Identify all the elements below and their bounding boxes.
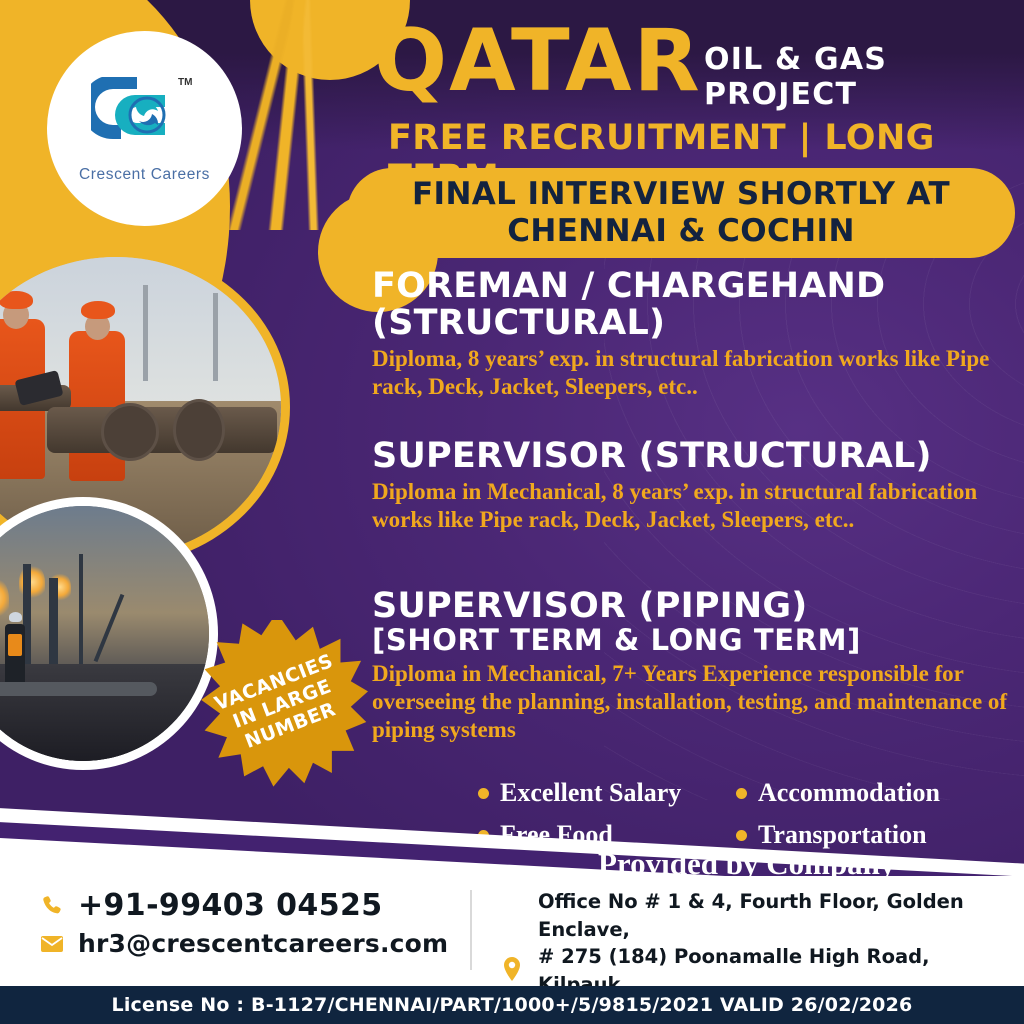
crescent-c-icon bbox=[91, 77, 199, 159]
email-icon bbox=[38, 934, 66, 954]
contact-left: +91-99403 04525 hr3@crescentcareers.com bbox=[38, 888, 448, 964]
phone-number: +91-99403 04525 bbox=[78, 888, 383, 923]
job-title-line2: (STRUCTURAL) bbox=[372, 305, 1020, 342]
job-item-foreman: FOREMAN / CHARGEHAND (STRUCTURAL) Diplom… bbox=[372, 268, 1020, 401]
job-description: Diploma, 8 years’ exp. in structural fab… bbox=[372, 345, 1020, 401]
email-line[interactable]: hr3@crescentcareers.com bbox=[38, 929, 448, 958]
interview-banner-line2: CHENNAI & COCHIN bbox=[507, 213, 855, 250]
job-title-line1: SUPERVISOR (PIPING) bbox=[372, 588, 1020, 625]
photo-mast bbox=[79, 554, 83, 666]
trademark-icon: TM bbox=[178, 77, 192, 88]
footer-divider bbox=[470, 890, 472, 970]
interview-banner: FINAL INTERVIEW SHORTLY AT CHENNAI & COC… bbox=[347, 168, 1015, 258]
photo-refinery-dusk bbox=[0, 497, 218, 770]
address-line-1: Office No # 1 & 4, Fourth Floor, Golden … bbox=[538, 888, 1024, 943]
photo-derrick-2 bbox=[213, 293, 218, 381]
job-title-line1: SUPERVISOR (STRUCTURAL) bbox=[372, 438, 1020, 475]
license-bar: License No : B-1127/CHENNAI/PART/1000+/5… bbox=[0, 986, 1024, 1024]
job-title-line1: FOREMAN / CHARGEHAND bbox=[372, 268, 1020, 305]
benefits-row-1: Excellent Salary Accommodation bbox=[478, 772, 998, 814]
photo-ground-pipe bbox=[0, 682, 157, 696]
recruitment-poster: TM Crescent Careers QATAR OIL & GAS PROJ… bbox=[0, 0, 1024, 1024]
photo-worker-1-helmet bbox=[0, 291, 33, 309]
job-description: Diploma in Mechanical, 8 years’ exp. in … bbox=[372, 478, 1020, 534]
job-item-supervisor-structural: SUPERVISOR (STRUCTURAL) Diploma in Mecha… bbox=[372, 438, 1020, 534]
phone-line[interactable]: +91-99403 04525 bbox=[38, 888, 448, 923]
photo-worker-helmet bbox=[9, 612, 22, 622]
photo-foreground bbox=[0, 664, 209, 761]
benefit-item: Excellent Salary bbox=[478, 772, 736, 814]
photo-derrick-1 bbox=[143, 285, 148, 381]
photo-worker-vest bbox=[8, 634, 22, 656]
benefit-label: Accommodation bbox=[758, 778, 940, 808]
photo-stack-3 bbox=[49, 578, 58, 668]
license-text: License No : B-1127/CHENNAI/PART/1000+/5… bbox=[112, 994, 913, 1016]
logo-company-name: Crescent Careers bbox=[79, 166, 210, 184]
logo-mark: TM bbox=[91, 77, 199, 159]
email-address: hr3@crescentcareers.com bbox=[78, 929, 448, 958]
photo-worker-2-helmet bbox=[81, 301, 115, 319]
job-description: Diploma in Mechanical, 7+ Years Experien… bbox=[372, 660, 1020, 744]
job-item-supervisor-piping: SUPERVISOR (PIPING) [SHORT TERM & LONG T… bbox=[372, 588, 1020, 744]
bullet-dot-icon bbox=[478, 788, 489, 799]
project-subtitle: OIL & GAS PROJECT bbox=[704, 42, 1024, 112]
vacancies-badge-text: VACANCIES IN LARGE NUMBER bbox=[211, 650, 352, 760]
company-logo: TM Crescent Careers bbox=[47, 31, 242, 226]
bullet-dot-icon bbox=[736, 788, 747, 799]
interview-banner-line1: FINAL INTERVIEW SHORTLY AT bbox=[412, 176, 950, 213]
photo-flange-1 bbox=[101, 403, 159, 461]
contact-footer: +91-99403 04525 hr3@crescentcareers.com … bbox=[0, 876, 1024, 986]
phone-icon bbox=[38, 894, 66, 918]
photo-pipe-main bbox=[47, 407, 277, 453]
bullet-dot-icon bbox=[736, 830, 747, 841]
page-title-country: QATAR bbox=[374, 18, 702, 104]
job-title-line2: [SHORT TERM & LONG TERM] bbox=[372, 625, 1020, 657]
benefit-label: Excellent Salary bbox=[500, 778, 681, 808]
benefit-item: Accommodation bbox=[736, 772, 940, 814]
photo-flange-2 bbox=[173, 399, 225, 461]
